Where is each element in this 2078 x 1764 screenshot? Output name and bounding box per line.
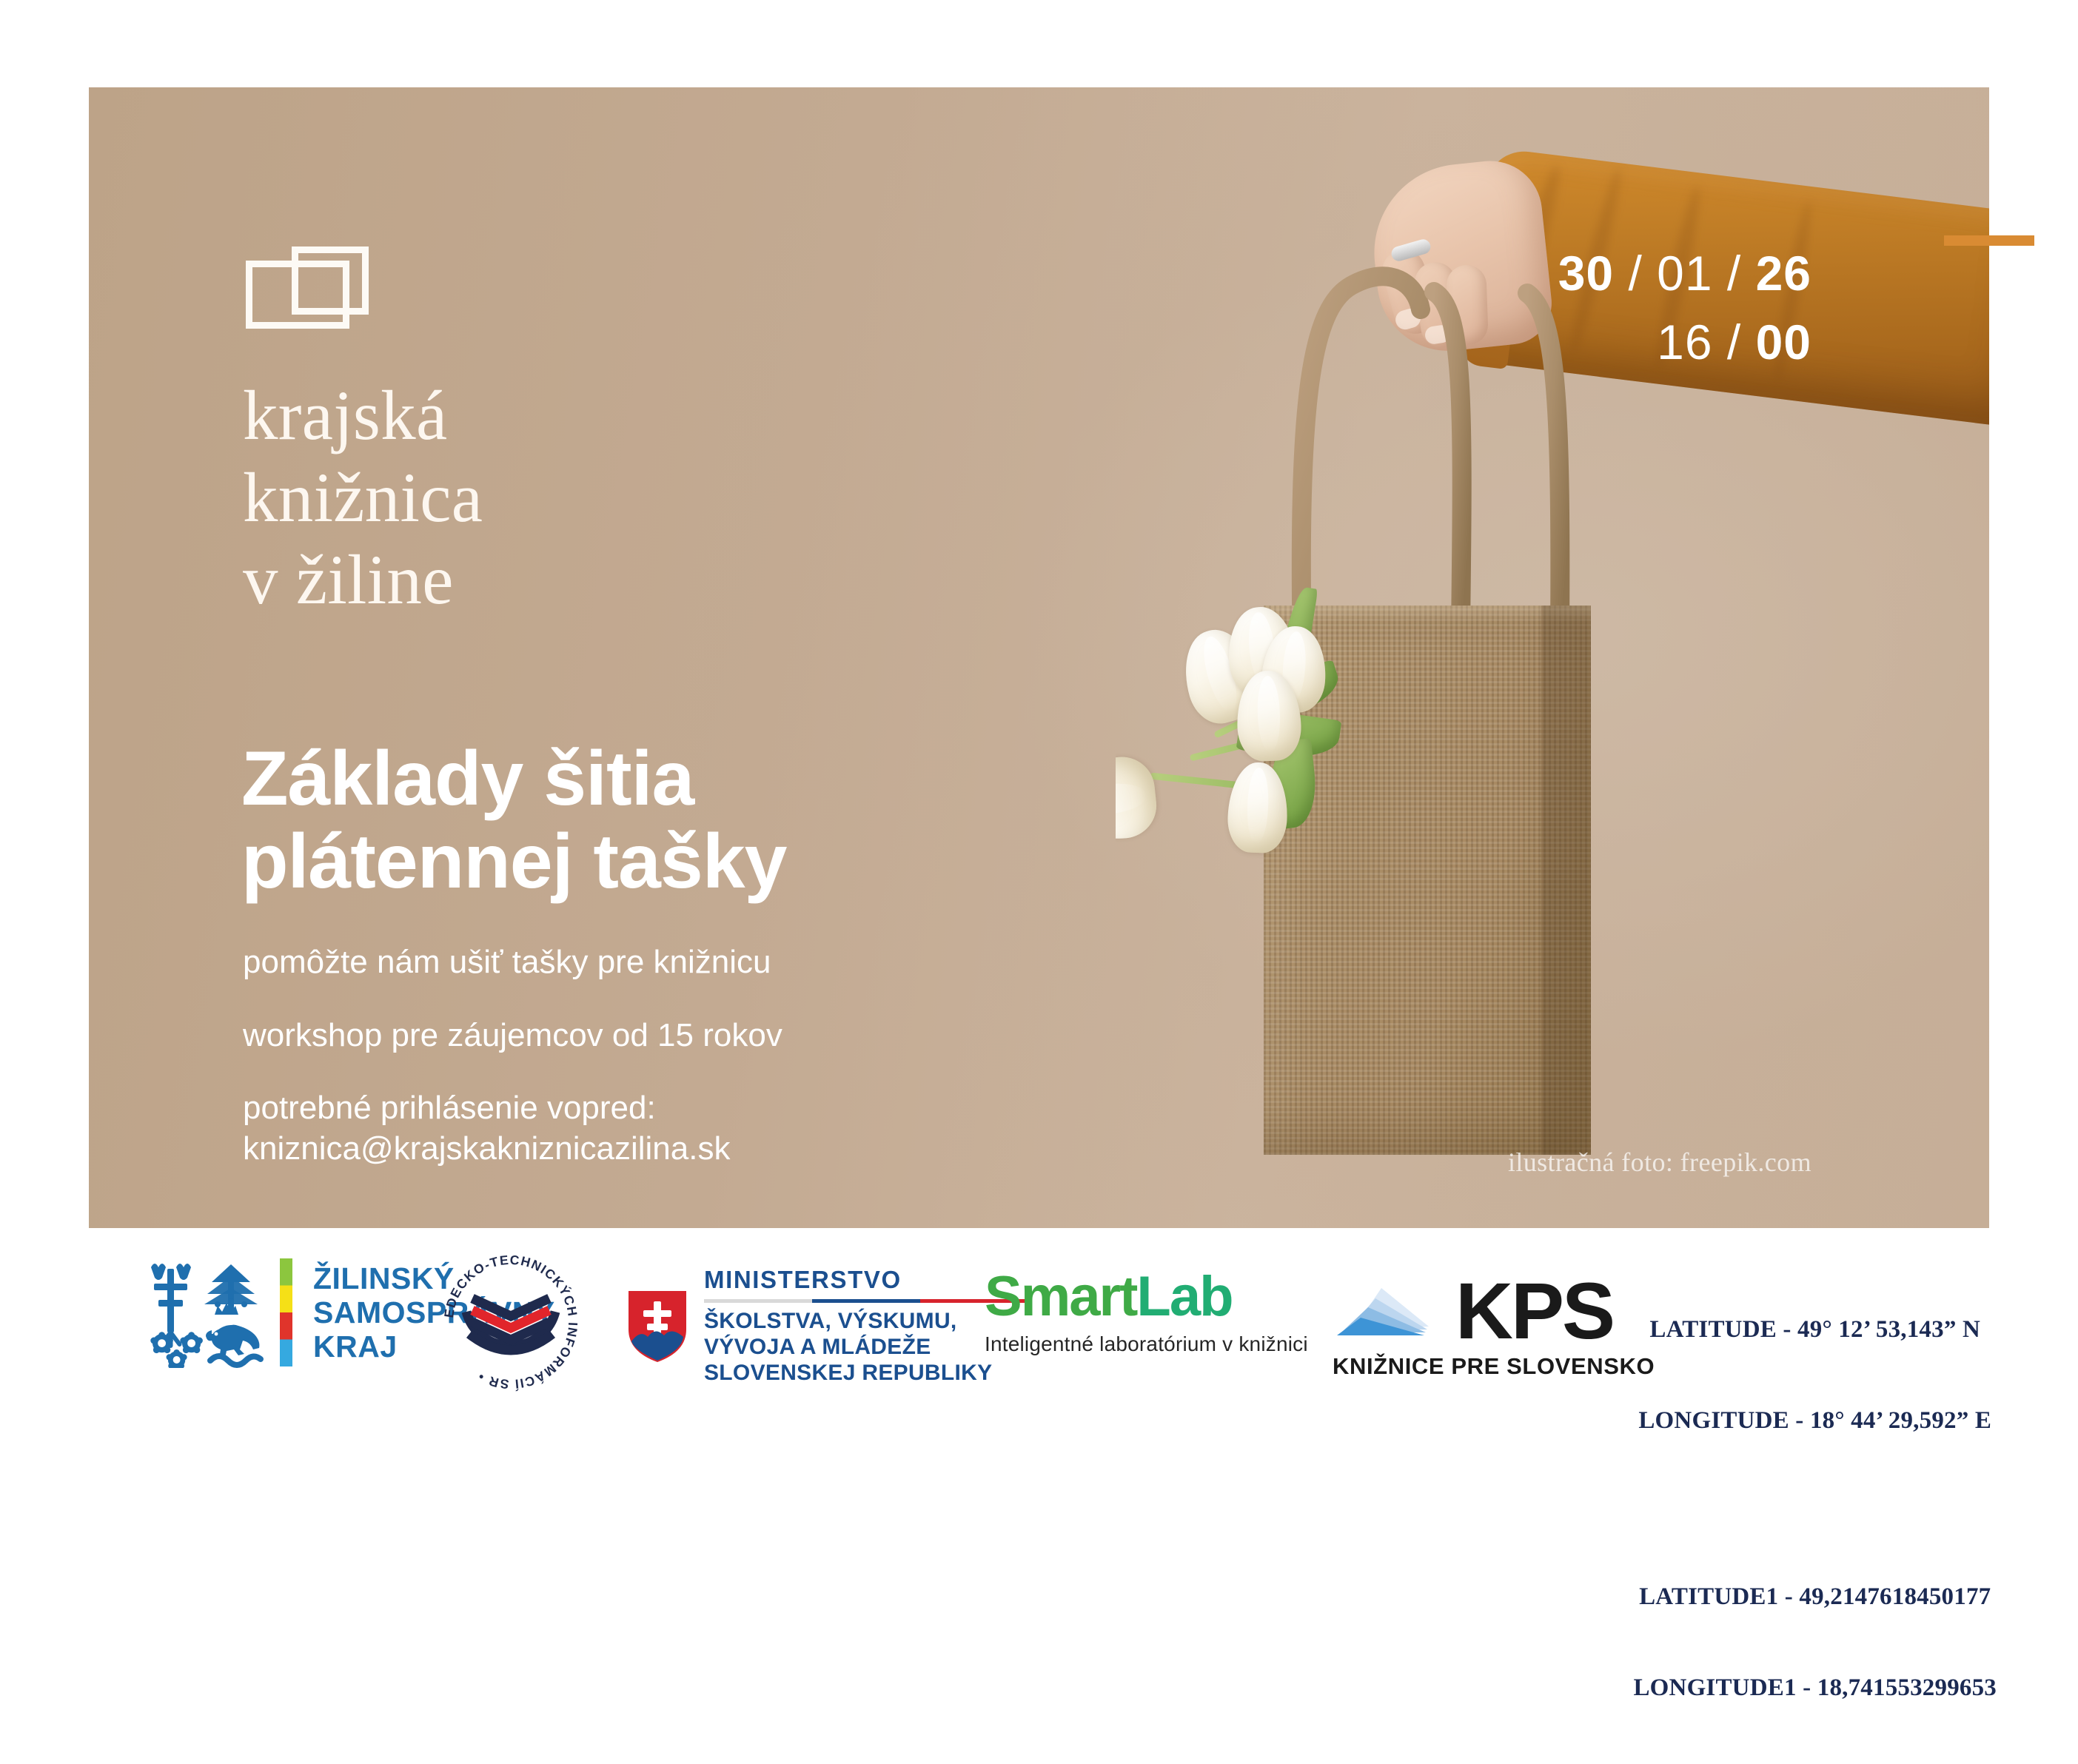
accent-bar — [1944, 235, 2034, 246]
coords-dms: LATITUDE - 49° 12’ 53,143” N LONGITUDE -… — [1633, 1254, 1997, 1496]
ministry-line-4: SLOVENSKEJ REPUBLIKY — [704, 1361, 1030, 1386]
wordmark-line-3: v žiline — [243, 539, 483, 621]
logo-rect-right — [292, 247, 369, 315]
smartlab-wordmark: SmartLab — [985, 1269, 1308, 1325]
kps-book-icon — [1333, 1258, 1444, 1346]
smartlab-tagline: Inteligentné laboratórium v knižnici — [985, 1332, 1308, 1356]
wordmark-line-2: knižnica — [243, 457, 483, 539]
ministry-line-2: ŠKOLSTVA, VÝSKUMU, — [704, 1309, 1030, 1335]
event-date-row: 30 / 01 / 26 — [1558, 249, 1811, 298]
ministry-line-3: VÝVOJA A MLÁDEŽE — [704, 1335, 1030, 1361]
coords-latitude: LATITUDE - 49° 12’ 53,143” N — [1633, 1315, 1997, 1345]
ministry-line-1: MINISTERSTVO — [704, 1266, 1030, 1294]
footer-logos: ŽILINSKÝ SAMOSPRÁVNY KRAJ CENTRUM VEDECK… — [0, 1241, 2078, 1441]
page-title: Základy šitia plátennej tašky — [241, 737, 786, 904]
event-datetime: 30 / 01 / 26 16 / 00 — [1558, 249, 1811, 368]
tulip-bouquet — [1116, 561, 1446, 902]
ministry-lines: ŠKOLSTVA, VÝSKUMU, VÝVOJA A MLÁDEŽE SLOV… — [704, 1309, 1030, 1386]
date-sep-1: / — [1614, 246, 1657, 301]
kps-row: KPS — [1333, 1258, 1655, 1346]
date-sep-2: / — [1713, 246, 1756, 301]
event-month: 01 — [1657, 246, 1712, 301]
cvti-sr-logo-icon: CENTRUM VEDECKO-TECHNICKÝCH INFORMÁCIÍ S… — [437, 1248, 585, 1396]
time-sep: / — [1713, 315, 1756, 369]
description-line-1: pomôžte nám ušiť tašky pre knižnicu — [243, 942, 782, 983]
title-line-2: plátennej tašky — [241, 820, 786, 903]
zsk-coat-of-arms-icon — [141, 1257, 265, 1368]
coords-longitude: LONGITUDE - 18° 44’ 29,592” E — [1633, 1406, 1997, 1436]
illustration-photo — [1116, 87, 1989, 1228]
registration-info: potrebné prihlásenie vopred: kniznica@kr… — [243, 1088, 782, 1169]
smartlab-word-lab: Lab — [1136, 1265, 1232, 1328]
event-year: 26 — [1756, 246, 1811, 301]
photo-credit: ilustračná foto: freepik.com — [1508, 1147, 1811, 1178]
sidebar-item-smartlab: SmartLab Inteligentné laboratórium v kni… — [985, 1269, 1308, 1356]
sidebar-item-cvti: CENTRUM VEDECKO-TECHNICKÝCH INFORMÁCIÍ S… — [437, 1248, 585, 1396]
venue-coordinates: LATITUDE - 49° 12’ 53,143” N LONGITUDE -… — [1633, 1254, 1997, 1764]
library-wordmark: krajská knižnica v žiline — [243, 375, 483, 621]
event-day: 30 — [1558, 246, 1614, 301]
ministry-wordmark: MINISTERSTVO ŠKOLSTVA, VÝSKUMU, VÝVOJA A… — [704, 1266, 1030, 1386]
event-minute: 00 — [1756, 315, 1811, 369]
ministry-tricolor-rule — [704, 1299, 1030, 1303]
poster-panel: krajská knižnica v žiline 30 / 01 / 26 1… — [89, 87, 1989, 1228]
kps-letters: KPS — [1455, 1277, 1613, 1346]
slovak-coat-of-arms-icon — [626, 1288, 689, 1364]
wordmark-line-1: krajská — [243, 375, 483, 457]
event-time-row: 16 / 00 — [1558, 318, 1811, 367]
coords-longitude1: LONGITUDE1 - 18,741553299653 — [1633, 1673, 1997, 1703]
title-line-1: Základy šitia — [241, 737, 786, 820]
library-logo-mark — [246, 247, 369, 329]
coords-latitude1: LATITUDE1 - 49,2147618450177 — [1633, 1582, 1997, 1612]
smartlab-word-smart: Smart — [985, 1265, 1136, 1328]
event-hour: 16 — [1657, 315, 1712, 369]
coords-decimal: LATITUDE1 - 49,2147618450177 LONGITUDE1 … — [1633, 1521, 1997, 1763]
kps-tagline: KNIŽNICE PRE SLOVENSKO — [1333, 1353, 1655, 1380]
description-line-2: workshop pre záujemcov od 15 rokov — [243, 1016, 782, 1056]
event-description: pomôžte nám ušiť tašky pre knižnicu work… — [243, 942, 782, 1169]
zsk-color-bar — [280, 1258, 292, 1366]
poster-root: krajská knižnica v žiline 30 / 01 / 26 1… — [0, 0, 2078, 1469]
sidebar-item-ministry: MINISTERSTVO ŠKOLSTVA, VÝSKUMU, VÝVOJA A… — [626, 1266, 1030, 1386]
sidebar-item-kps: KPS KNIŽNICE PRE SLOVENSKO — [1333, 1258, 1655, 1380]
